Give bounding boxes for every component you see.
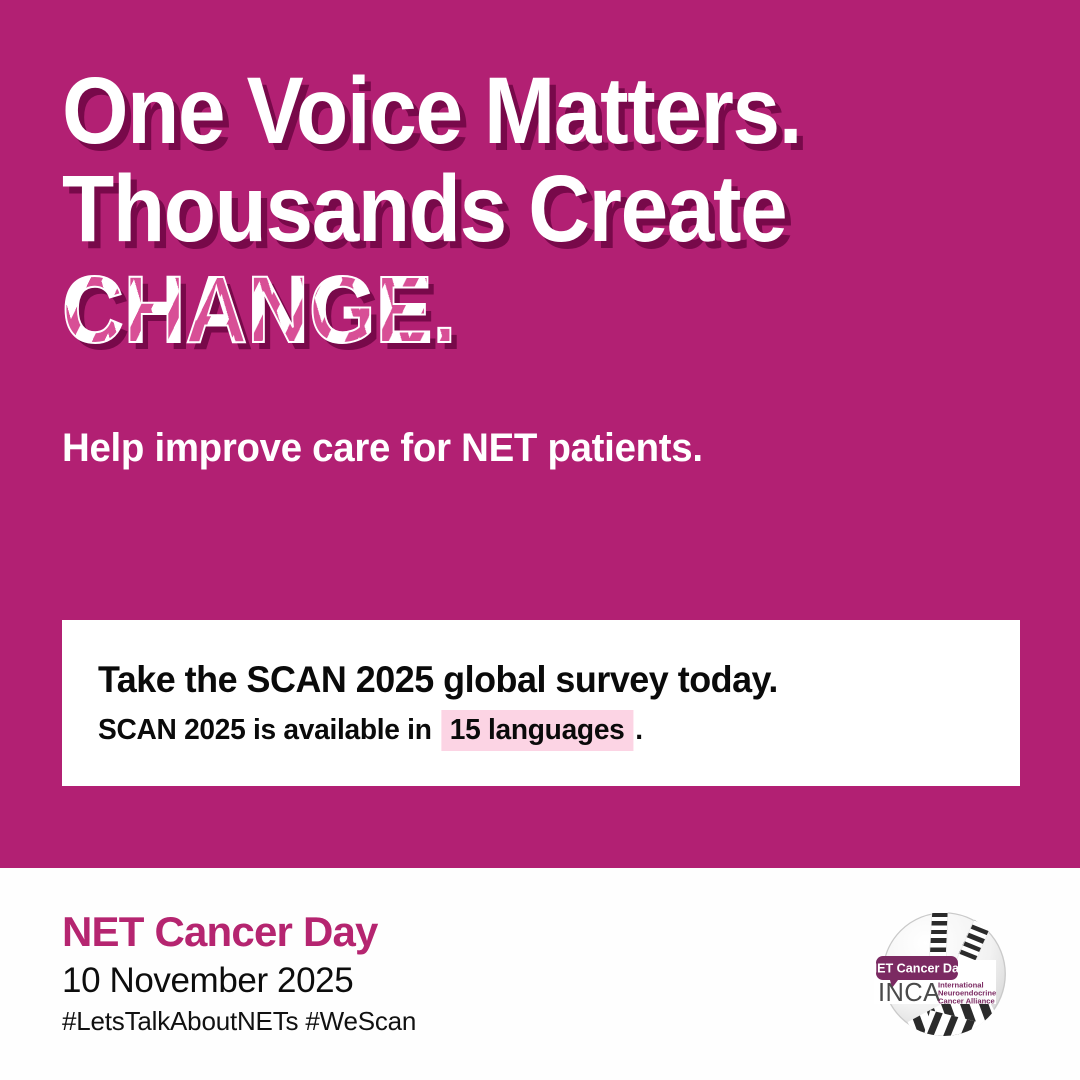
headline-line-3-change: CHANGE. CHANGE. CHANGE.	[62, 258, 953, 362]
logo-badge-label: NET Cancer Day	[874, 962, 966, 976]
inca-net-cancer-day-logo: NET Cancer Day INCA International Neuroe…	[874, 904, 1014, 1044]
poster-canvas: One Voice Matters. Thousands Create CHAN…	[0, 0, 1080, 1080]
footer-text-block: NET Cancer Day 10 November 2025 #LetsTal…	[62, 908, 416, 1037]
hero-subheadline: Help improve care for NET patients.	[62, 424, 703, 472]
change-outline-layer: CHANGE.	[62, 258, 456, 362]
footer-hashtags: #LetsTalkAboutNETs #WeScan	[62, 1005, 416, 1037]
callout-primary-text: Take the SCAN 2025 global survey today.	[98, 658, 992, 702]
logo-org-line-3: Cancer Alliance	[938, 996, 995, 1005]
headline-line-1: One Voice Matters.	[62, 62, 953, 160]
callout-secondary-text: SCAN 2025 is available in 15 languages.	[98, 712, 992, 748]
callout-secondary-prefix: SCAN 2025 is available in	[98, 714, 432, 746]
callout-secondary-suffix: .	[635, 714, 643, 746]
languages-highlight: 15 languages	[441, 710, 633, 751]
headline-line-2: Thousands Create	[62, 160, 953, 258]
headline-block: One Voice Matters. Thousands Create CHAN…	[62, 62, 1052, 362]
hero-section: One Voice Matters. Thousands Create CHAN…	[0, 0, 1080, 868]
footer-brand-title: NET Cancer Day	[62, 908, 416, 956]
footer-section: NET Cancer Day 10 November 2025 #LetsTal…	[0, 868, 1080, 1080]
survey-callout-card: Take the SCAN 2025 global survey today. …	[62, 620, 1020, 786]
logo-svg: NET Cancer Day INCA International Neuroe…	[874, 904, 1014, 1044]
footer-event-date: 10 November 2025	[62, 960, 416, 1002]
logo-acronym: INCA	[878, 979, 941, 1007]
